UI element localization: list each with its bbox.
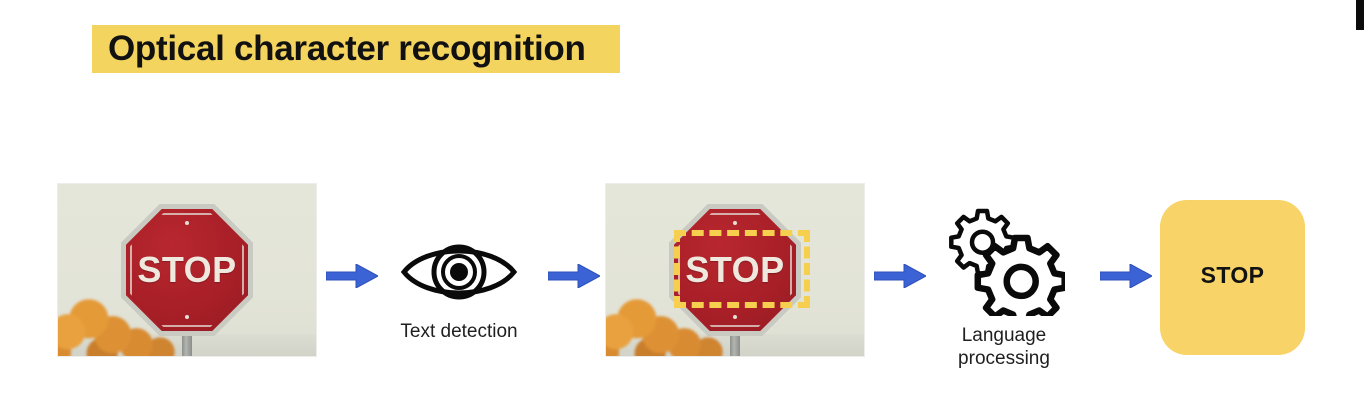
sign-bolt-bottom [185,315,189,319]
eye-icon [371,236,547,312]
step-language-processing: Language processing [916,202,1092,372]
sign-bolt-bottom [733,315,737,319]
sign-stop-text: STOP [121,251,253,289]
gears-icon [916,202,1092,320]
ocr-output-text: STOP [1160,262,1305,289]
sign-bolt-top [733,221,737,225]
stop-sign-photo-with-bounding-box: STOP [606,184,864,356]
ocr-output-card: STOP [1160,200,1305,355]
text-detection-bounding-box [674,230,810,308]
language-processing-label-line-2: processing [916,347,1092,370]
arrow-right-icon [1100,264,1152,288]
ocr-pipeline-diagram: STOP Text detection [0,0,1364,405]
language-processing-label: Language processing [916,324,1092,370]
language-processing-label-line-1: Language [916,324,1092,347]
sign-bolt-top [185,221,189,225]
stop-sign-photo: STOP [58,184,316,356]
photo-foliage [58,290,176,356]
step-text-detection: Text detection [371,236,547,364]
text-detection-label: Text detection [371,320,547,343]
right-edge-artifact [1356,0,1364,30]
arrow-right-icon [548,264,600,288]
